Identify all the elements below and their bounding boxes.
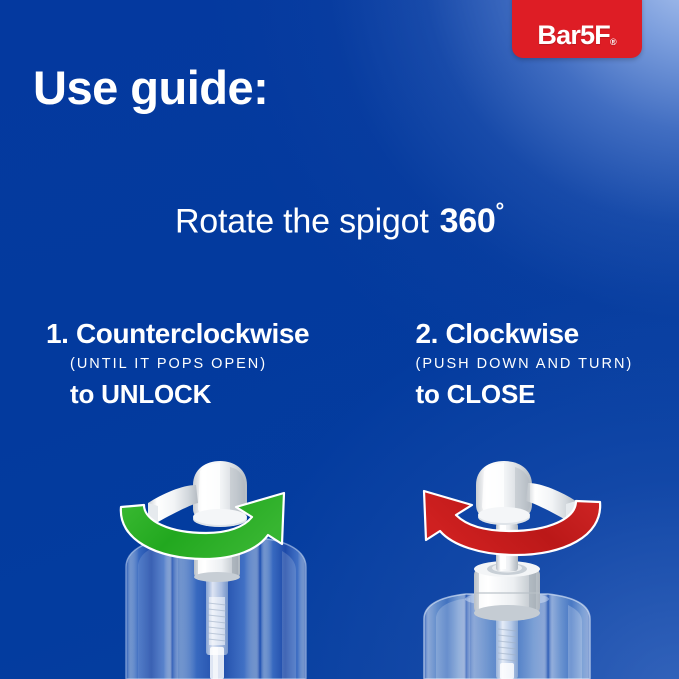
steps-container: 1. Counterclockwise (UNTIL IT POPS OPEN)… <box>0 318 679 410</box>
rotate-degrees-value: 360 <box>440 202 496 240</box>
step-2-title: 2. Clockwise <box>416 318 679 349</box>
registered-trademark-icon: ® <box>610 37 617 47</box>
step-2-title-text: Clockwise <box>445 318 578 349</box>
page-title: Use guide: <box>33 63 268 114</box>
step-1-action: to UNLOCK <box>46 379 340 410</box>
step-2-action: to CLOSE <box>416 379 679 410</box>
step-2: 2. Clockwise (PUSH DOWN AND TURN) to CLO… <box>340 318 679 410</box>
step-1-note: (UNTIL IT POPS OPEN) <box>46 356 340 372</box>
brand-logo-text: Bar5F® <box>537 22 616 49</box>
step-1-title: 1. Counterclockwise <box>46 318 340 349</box>
step-2-note: (PUSH DOWN AND TURN) <box>416 356 679 372</box>
pump-head-spigot <box>476 461 576 525</box>
illustration-close <box>376 447 636 679</box>
pump-head-spigot <box>148 461 247 527</box>
use-guide-poster: Bar5F® Use guide: Rotate the spigot360° … <box>0 0 679 679</box>
dip-tube <box>496 615 518 679</box>
brand-name: Bar5F <box>537 20 610 50</box>
degree-symbol-icon: ° <box>495 198 504 223</box>
step-1-title-text: Counterclockwise <box>76 318 309 349</box>
illustration-unlock <box>86 447 346 679</box>
step-1-number: 1. <box>46 318 69 349</box>
brand-logo-badge: Bar5F® <box>512 0 642 58</box>
step-2-number: 2. <box>416 318 439 349</box>
rotate-instruction-text: Rotate the spigot <box>175 202 429 240</box>
step-1: 1. Counterclockwise (UNTIL IT POPS OPEN)… <box>0 318 340 410</box>
rotate-instruction: Rotate the spigot360° <box>0 200 679 241</box>
